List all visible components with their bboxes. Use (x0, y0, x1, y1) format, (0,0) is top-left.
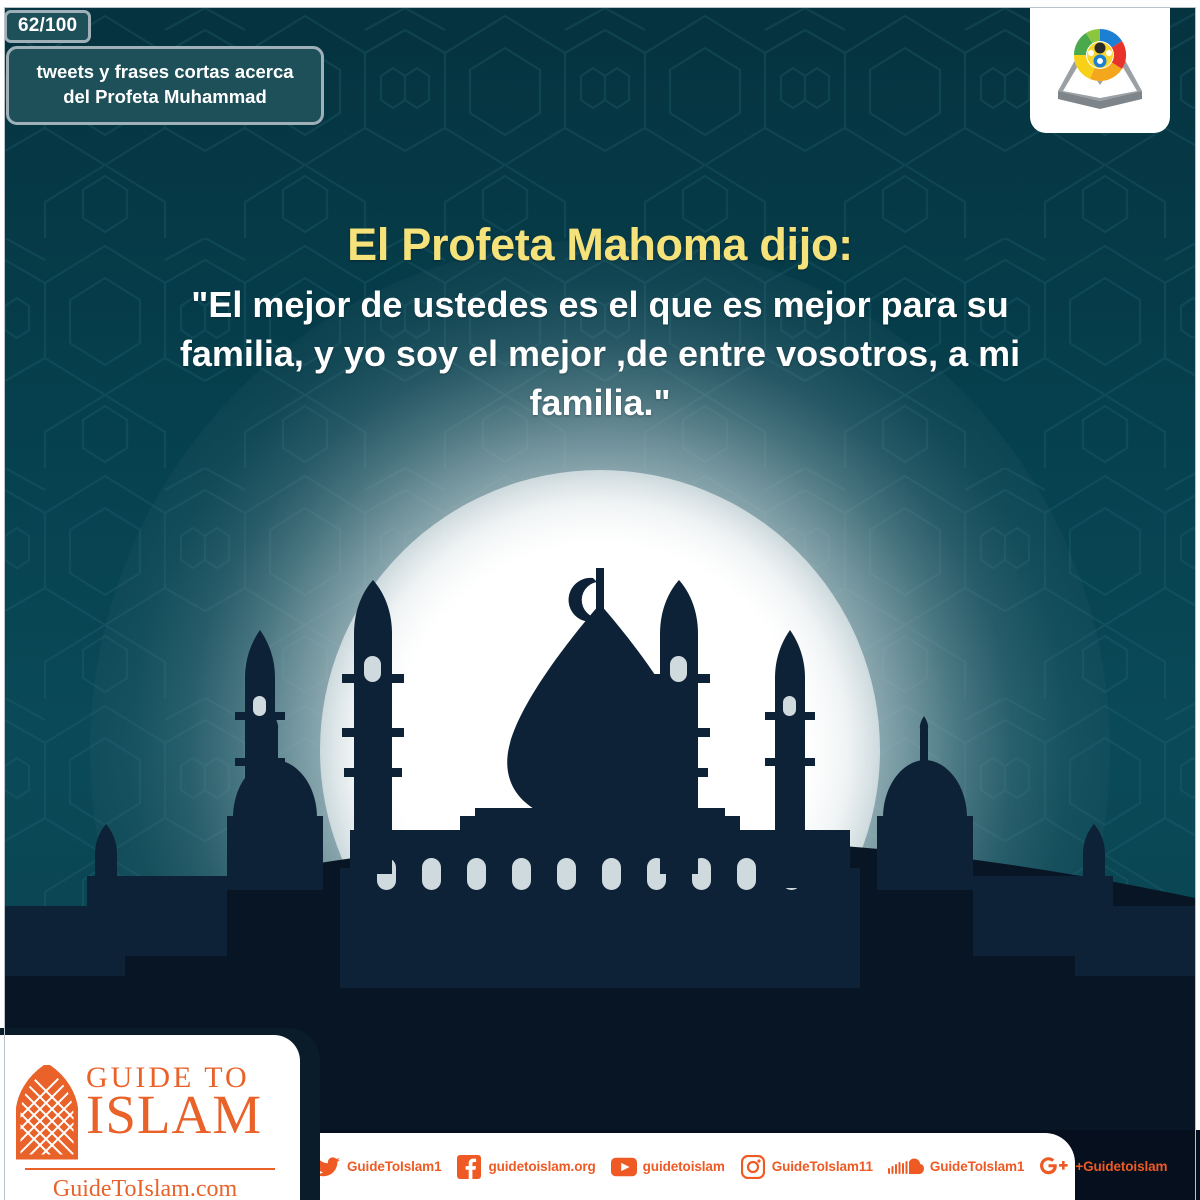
social-link-instagram[interactable]: GuideToIslam11 (740, 1154, 873, 1180)
social-link-googleplus[interactable]: +Guidetoislam (1039, 1154, 1167, 1180)
social-link-twitter[interactable]: GuideToIslam1 (315, 1154, 441, 1180)
soundcloud-icon (888, 1154, 924, 1180)
poster-canvas: El Profeta Mahoma dijo: "El mejor de ust… (0, 0, 1200, 1200)
social-handle: guidetoislam.org (488, 1159, 595, 1174)
brand-logo-card (1030, 0, 1170, 133)
social-link-youtube[interactable]: guidetoislam (611, 1154, 725, 1180)
social-link-facebook[interactable]: guidetoislam.org (456, 1154, 595, 1180)
social-handle: guidetoislam (643, 1159, 725, 1174)
quote-text: "El mejor de ustedes es el que es mejor … (125, 281, 1075, 428)
quote-block: El Profeta Mahoma dijo: "El mejor de ust… (5, 218, 1195, 428)
social-links-bar: GuideToIslam1 guidetoislam.org guidetois… (255, 1133, 1075, 1200)
social-handle: GuideToIslam1 (347, 1159, 441, 1174)
facebook-icon (456, 1154, 482, 1180)
googleplus-icon (1039, 1154, 1069, 1180)
social-handle: GuideToIslam1 (930, 1159, 1024, 1174)
quote-heading: El Profeta Mahoma dijo: (125, 218, 1075, 271)
guide-to-islam-globe-book-icon (1050, 19, 1150, 114)
series-title-box: tweets y frases cortas acerca del Profet… (6, 46, 324, 125)
logo-domain: GuideToIslam.com (0, 1177, 290, 1200)
artwork-area: El Profeta Mahoma dijo: "El mejor de ust… (5, 8, 1195, 1200)
youtube-icon (611, 1154, 637, 1180)
mosque-arch-lattice-icon (16, 1065, 78, 1161)
instagram-icon (740, 1154, 766, 1180)
brand-logo-footer-card: GUIDE TO ISLAM GuideToIslam.com (0, 1035, 300, 1200)
social-handle: +Guidetoislam (1075, 1159, 1167, 1174)
logo-line-2: ISLAM (86, 1089, 262, 1142)
social-handle: GuideToIslam11 (772, 1159, 873, 1174)
progress-counter-badge: 62/100 (4, 10, 91, 43)
social-link-soundcloud[interactable]: GuideToIslam1 (888, 1154, 1024, 1180)
